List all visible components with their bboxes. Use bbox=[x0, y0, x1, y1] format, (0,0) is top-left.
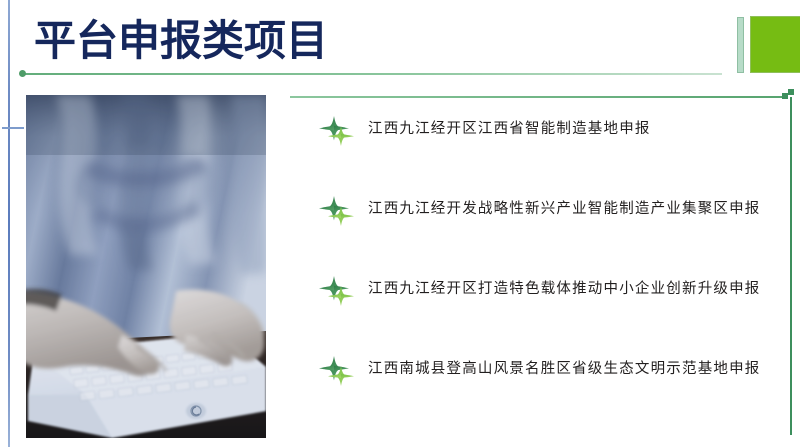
list-item-label: 江西九江经开发战略性新兴产业智能制造产业集聚区申报 bbox=[368, 190, 773, 221]
list-item[interactable]: 江西九江经开区江西省智能制造基地申报 bbox=[318, 110, 773, 166]
sparkle-star-icon bbox=[318, 274, 362, 314]
list-item[interactable]: 江西九江经开区打造特色载体推动中小企业创新升级申报 bbox=[318, 270, 773, 326]
list-item[interactable]: 江西南城县登高山风景名胜区省级生态文明示范基地申报 bbox=[318, 350, 773, 406]
title-underline-dot bbox=[19, 70, 26, 77]
sparkle-star-icon bbox=[318, 114, 362, 154]
sparkle-star-icon bbox=[318, 354, 362, 394]
content-vertical-line-dot bbox=[788, 89, 794, 95]
accent-bar-decoration bbox=[737, 17, 744, 73]
content-vertical-line bbox=[790, 97, 792, 435]
left-vertical-rule bbox=[8, 0, 10, 447]
content-horizontal-line bbox=[290, 96, 787, 98]
project-list: 江西九江经开区江西省智能制造基地申报 江西九江经开发战略性新兴产业智能制造产业集… bbox=[318, 110, 773, 418]
list-item[interactable]: 江西九江经开发战略性新兴产业智能制造产业集聚区申报 bbox=[318, 190, 773, 246]
laptop-typing-photo bbox=[26, 95, 266, 438]
title-underline bbox=[22, 73, 722, 75]
page-title: 平台申报类项目 bbox=[34, 16, 328, 66]
sparkle-star-icon bbox=[318, 194, 362, 234]
accent-square-decoration bbox=[750, 16, 800, 73]
slide: 平台申报类项目 bbox=[0, 0, 800, 447]
left-rule-tick bbox=[2, 127, 24, 129]
list-item-label: 江西南城县登高山风景名胜区省级生态文明示范基地申报 bbox=[368, 350, 773, 381]
list-item-label: 江西九江经开区江西省智能制造基地申报 bbox=[368, 110, 773, 141]
list-item-label: 江西九江经开区打造特色载体推动中小企业创新升级申报 bbox=[368, 270, 773, 301]
